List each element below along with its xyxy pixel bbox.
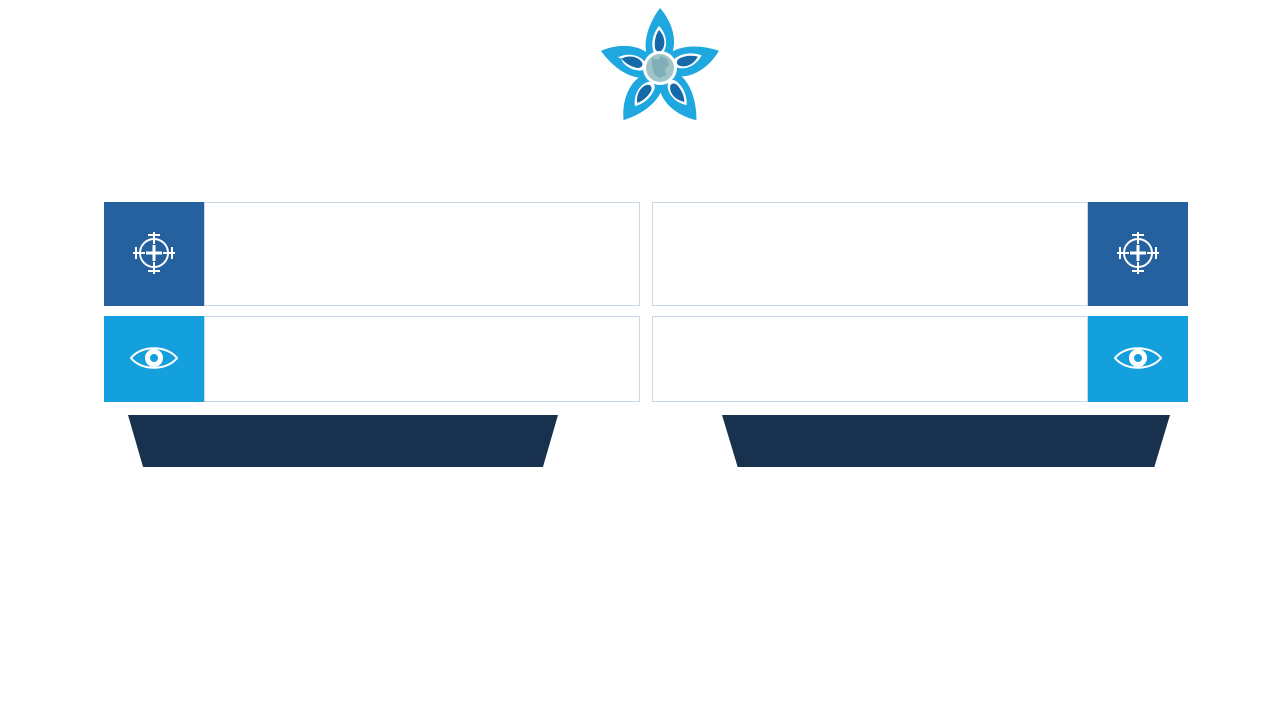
vision-text-box-en [204,316,640,402]
values-banner-ar [722,415,1170,467]
mission-text-box-ar [652,202,1088,306]
mission-badge-ar [1088,202,1188,306]
hospital-logo [545,2,775,202]
eye-icon [128,341,180,375]
slide-canvas [0,0,1280,720]
mission-badge-en [104,202,204,306]
target-crosshair-plus-icon [1112,227,1164,279]
mission-text-box-en [204,202,640,306]
vision-badge-ar [1088,316,1188,402]
hospital-star-flower-logo-icon [585,2,735,142]
eye-icon [1112,341,1164,375]
target-crosshair-plus-icon [128,227,180,279]
mission-vision-arabic [652,202,1188,402]
values-banner-en [128,415,558,467]
mission-vision-english [104,202,640,402]
mission-row-en [104,202,640,306]
vision-badge-en [104,316,204,402]
vision-row-ar [652,316,1188,402]
mission-row-ar [652,202,1188,306]
vision-row-en [104,316,640,402]
vision-text-box-ar [652,316,1088,402]
